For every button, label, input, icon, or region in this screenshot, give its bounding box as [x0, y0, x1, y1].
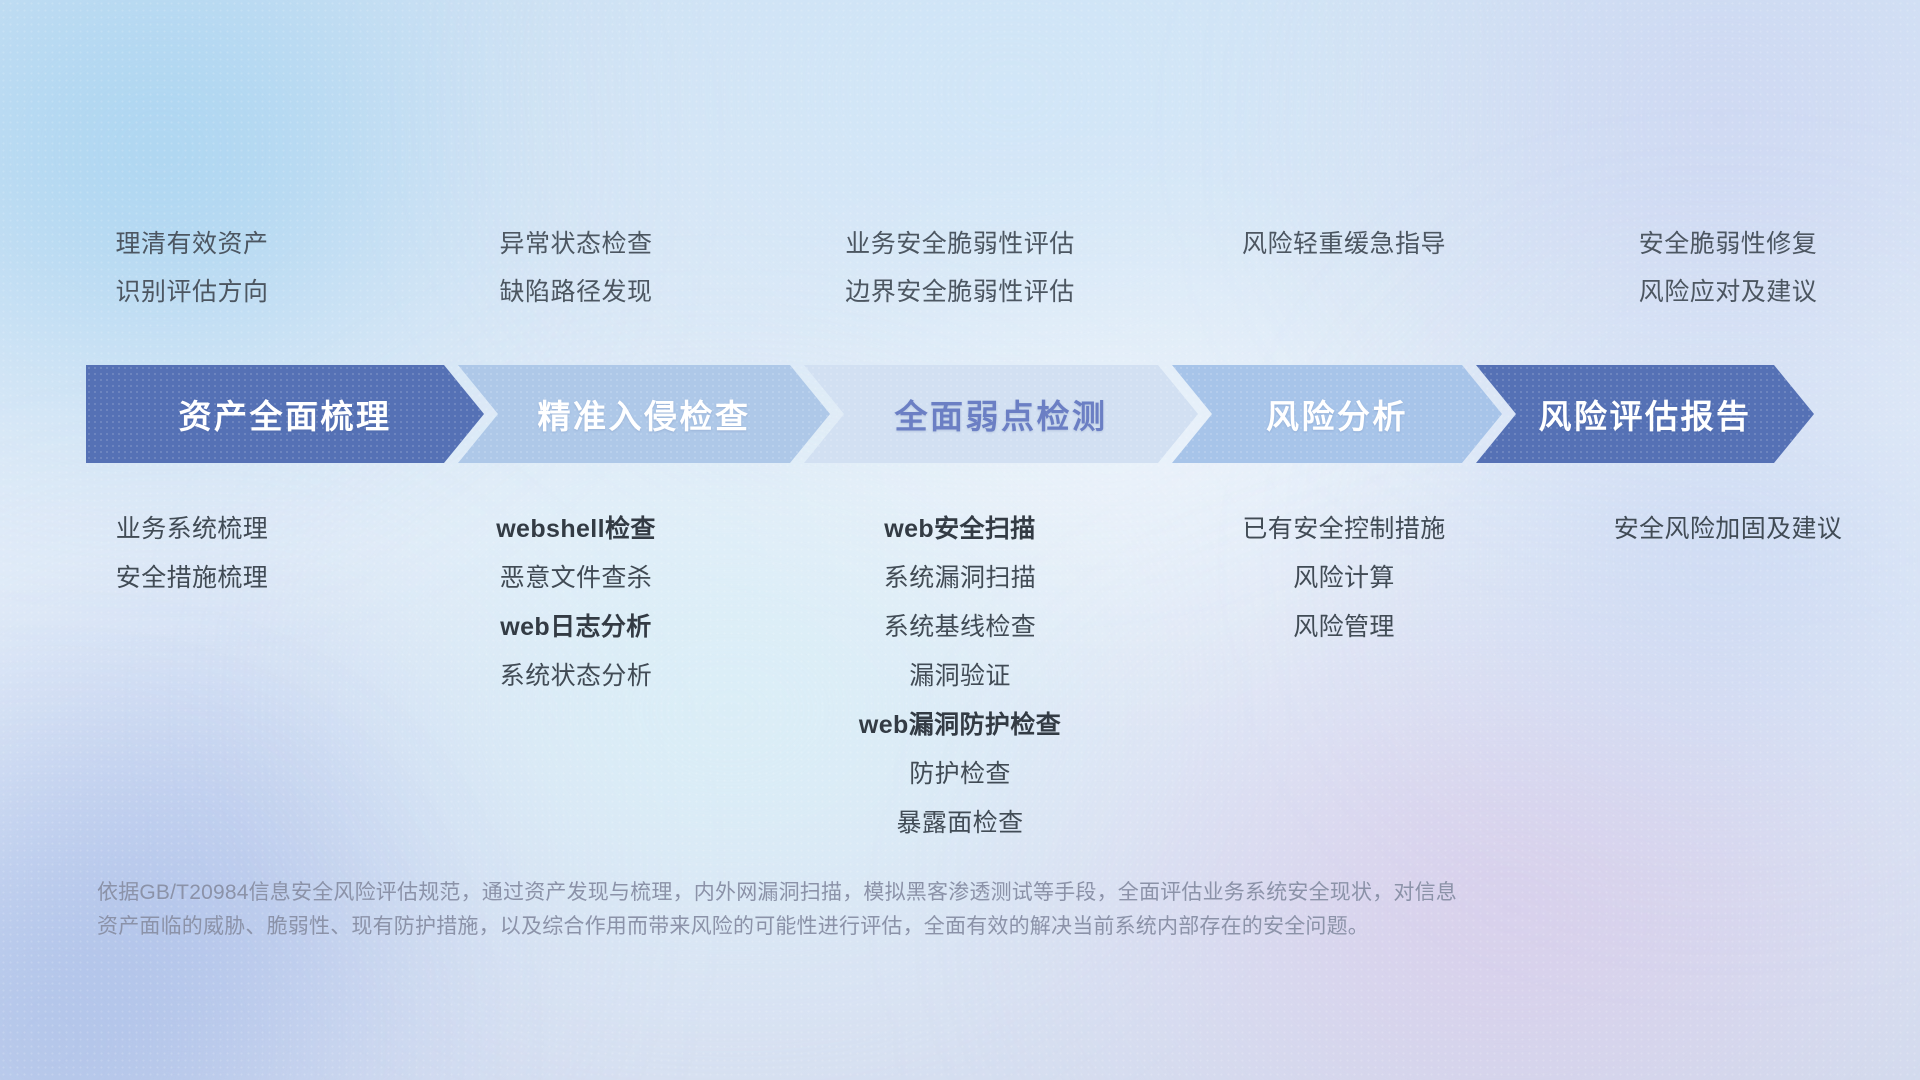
process-chevron-banner: 资产全面梳理 精准入侵检查 全面弱点检测 风险分析 风险评估报告	[86, 365, 1846, 463]
caption-line: 识别评估方向	[115, 272, 268, 312]
chevron-stage-asset-inventory[interactable]: 资产全面梳理	[86, 365, 484, 463]
stage-captions-weakness-detection: 业务安全脆弱性评估 边界安全脆弱性评估	[768, 224, 1152, 336]
stage-captions-assessment-report: 安全脆弱性修复 风险应对及建议	[1536, 224, 1920, 336]
caption-line: 缺陷路径发现	[499, 272, 652, 312]
footer-description: 依据GB/T20984信息安全风险评估规范，通过资产发现与梳理，内外网漏洞扫描，…	[97, 876, 1737, 944]
stage-captions-intrusion-check: 异常状态检查 缺陷路径发现	[384, 224, 768, 336]
chevron-label: 全面弱点检测	[895, 390, 1108, 438]
stage-items-risk-analysis: 已有安全控制措施风险计算风险管理	[1152, 505, 1536, 652]
stage-item: 系统漏洞扫描	[884, 554, 1036, 603]
stage-item: 漏洞验证	[909, 652, 1011, 701]
diagram-canvas: 理清有效资产 识别评估方向 异常状态检查 缺陷路径发现 业务安全脆弱性评估 边界…	[0, 0, 1920, 1080]
chevron-label: 风险评估报告	[1539, 390, 1752, 438]
stage-item: 安全风险加固及建议	[1614, 505, 1843, 554]
stage-items-asset-inventory: 业务系统梳理安全措施梳理	[0, 505, 384, 603]
chevron-stage-weakness-detection[interactable]: 全面弱点检测	[804, 365, 1198, 463]
stage-item: 已有安全控制措施	[1242, 505, 1445, 554]
footer-line-1: 依据GB/T20984信息安全风险评估规范，通过资产发现与梳理，内外网漏洞扫描，…	[97, 876, 1737, 910]
chevron-stage-intrusion-check[interactable]: 精准入侵检查	[458, 365, 830, 463]
stage-item: 暴露面检查	[896, 799, 1023, 848]
stage-captions-risk-analysis: 风险轻重缓急指导	[1152, 224, 1536, 336]
caption-line: 理清有效资产	[115, 224, 268, 264]
stage-item: 系统基线检查	[884, 603, 1036, 652]
chevron-label: 风险分析	[1266, 390, 1408, 438]
chevron-stage-risk-analysis[interactable]: 风险分析	[1172, 365, 1502, 463]
stage-item: 业务系统梳理	[116, 505, 268, 554]
caption-line: 异常状态检查	[499, 224, 652, 264]
chevron-stage-assessment-report[interactable]: 风险评估报告	[1476, 365, 1814, 463]
stage-items-intrusion-check: webshell检查恶意文件查杀web日志分析系统状态分析	[384, 505, 768, 701]
stage-items-assessment-report: 安全风险加固及建议	[1536, 505, 1920, 554]
caption-line: 边界安全脆弱性评估	[845, 272, 1075, 312]
stage-item: 风险计算	[1293, 554, 1395, 603]
stage-captions-row: 理清有效资产 识别评估方向 异常状态检查 缺陷路径发现 业务安全脆弱性评估 边界…	[0, 224, 1920, 336]
footer-line-2: 资产面临的威胁、脆弱性、现有防护措施，以及综合作用而带来风险的可能性进行评估，全…	[97, 910, 1737, 944]
caption-line: 风险应对及建议	[1639, 272, 1818, 312]
stage-items-row: 业务系统梳理安全措施梳理 webshell检查恶意文件查杀web日志分析系统状态…	[0, 505, 1920, 848]
stage-item: webshell检查	[496, 505, 656, 554]
caption-line: 业务安全脆弱性评估	[845, 224, 1075, 264]
stage-item: 安全措施梳理	[116, 554, 268, 603]
stage-items-weakness-detection: web安全扫描系统漏洞扫描系统基线检查漏洞验证web漏洞防护检查防护检查暴露面检…	[768, 505, 1152, 848]
stage-item: web安全扫描	[884, 505, 1035, 554]
chevron-label: 精准入侵检查	[538, 390, 751, 438]
stage-item: 系统状态分析	[500, 652, 652, 701]
stage-item: 防护检查	[909, 750, 1011, 799]
stage-captions-asset-inventory: 理清有效资产 识别评估方向	[0, 224, 384, 336]
stage-item: web漏洞防护检查	[859, 701, 1061, 750]
caption-line: 安全脆弱性修复	[1639, 224, 1818, 264]
stage-item: web日志分析	[500, 603, 651, 652]
stage-item: 风险管理	[1293, 603, 1395, 652]
chevron-label: 资产全面梳理	[179, 390, 392, 438]
diagram-content: 理清有效资产 识别评估方向 异常状态检查 缺陷路径发现 业务安全脆弱性评估 边界…	[0, 0, 1920, 1080]
stage-item: 恶意文件查杀	[500, 554, 652, 603]
caption-line: 风险轻重缓急指导	[1242, 224, 1446, 264]
